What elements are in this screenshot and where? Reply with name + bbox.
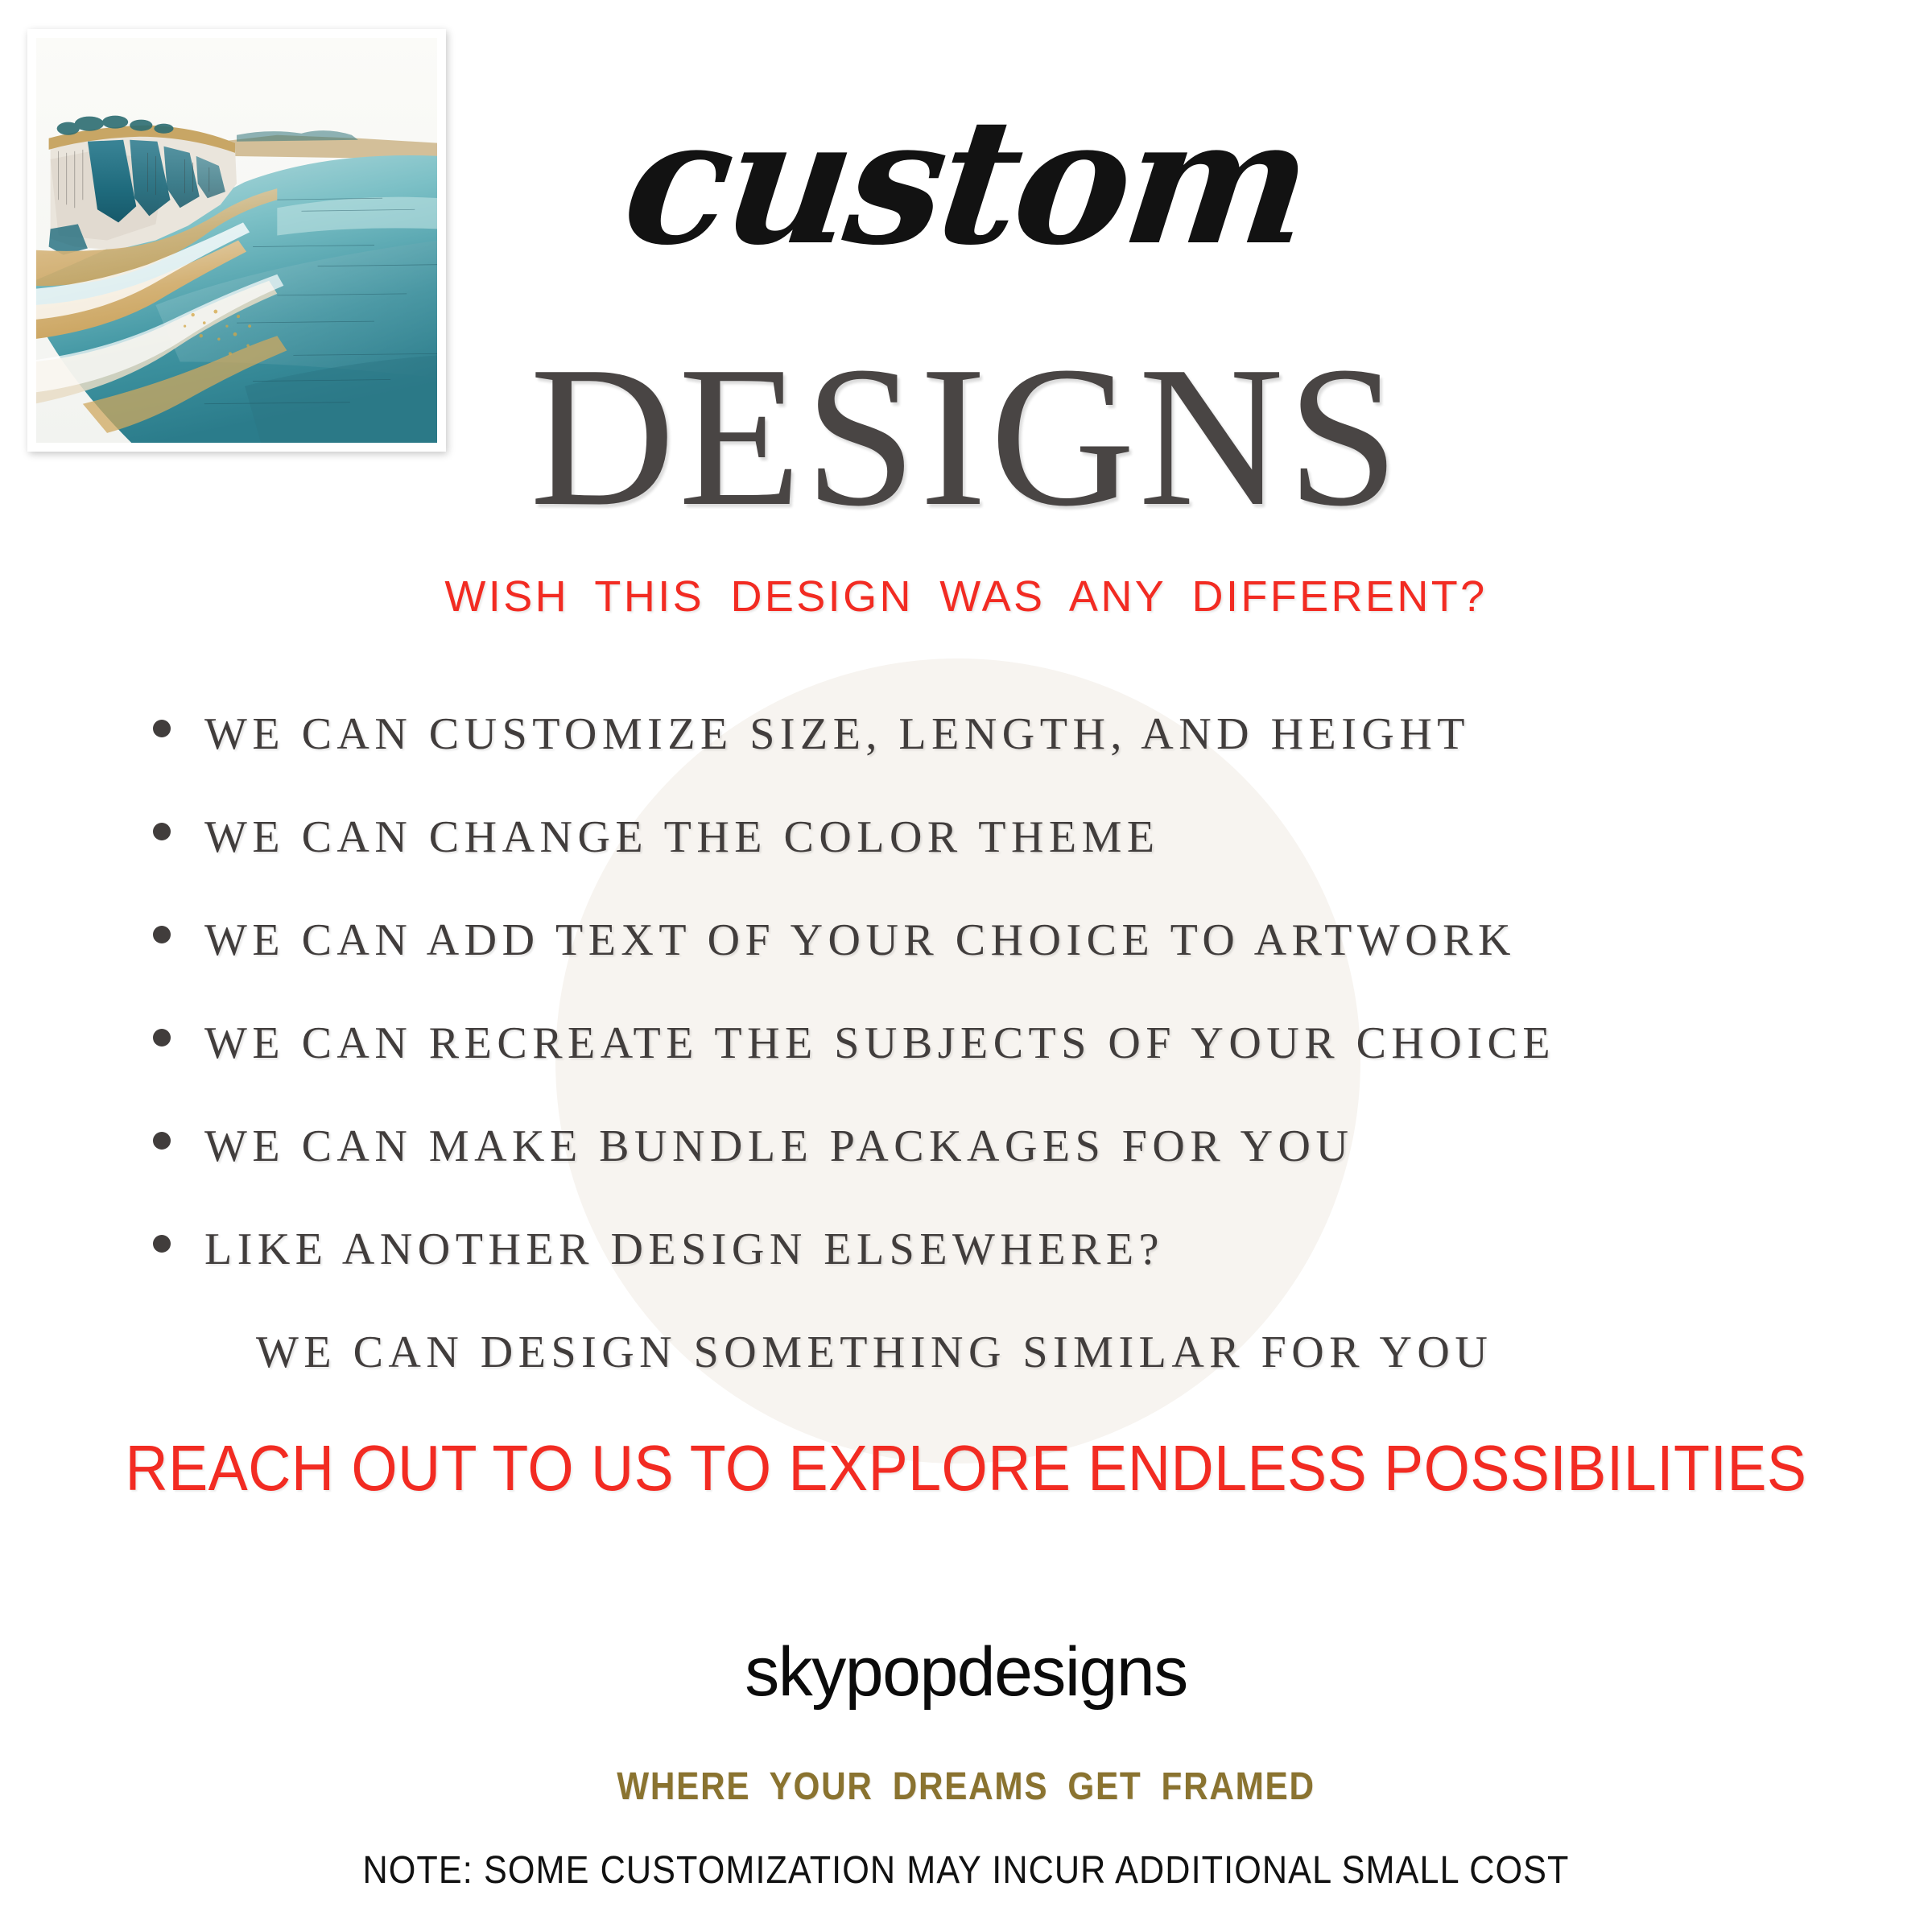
bullet-icon xyxy=(153,1029,171,1046)
brand-logo-text: skypopdesigns xyxy=(0,1637,1932,1707)
list-item-label: LIKE ANOTHER DESIGN ELSEWHERE? xyxy=(204,1224,1164,1275)
list-item-label: WE CAN RECREATE THE SUBJECTS OF YOUR CHO… xyxy=(204,1018,1555,1069)
list-item: WE CAN CUSTOMIZE SIZE, LENGTH, AND HEIGH… xyxy=(153,708,1811,811)
list-item: WE CAN MAKE BUNDLE PACKAGES FOR YOU xyxy=(153,1121,1811,1224)
list-item-continuation: WE CAN DESIGN SOMETHING SIMILAR FOR YOU xyxy=(153,1327,1811,1430)
bullet-icon xyxy=(153,1235,171,1253)
brand-tagline: WHERE YOUR DREAMS GET FRAMED xyxy=(116,1768,1816,1806)
bullet-icon xyxy=(153,1132,171,1150)
bullet-icon-placeholder xyxy=(204,1338,222,1356)
coastal-cliffs-illustration xyxy=(36,38,437,443)
footnote-note: NOTE: SOME CUSTOMIZATION MAY INCUR ADDIT… xyxy=(97,1851,1835,1890)
list-item: WE CAN ADD TEXT OF YOUR CHOICE TO ARTWOR… xyxy=(153,914,1811,1018)
artwork-image xyxy=(36,38,437,443)
bullet-icon xyxy=(153,823,171,840)
bullet-icon xyxy=(153,720,171,737)
list-item: WE CAN CHANGE THE COLOR THEME xyxy=(153,811,1811,914)
artwork-thumbnail xyxy=(27,29,446,452)
subtitle-question: WISH THIS DESIGN WAS ANY DIFFERENT? xyxy=(0,573,1932,621)
list-item-label: WE CAN CHANGE THE COLOR THEME xyxy=(204,811,1160,863)
list-item: WE CAN RECREATE THE SUBJECTS OF YOUR CHO… xyxy=(153,1018,1811,1121)
list-item-label: WE CAN CUSTOMIZE SIZE, LENGTH, AND HEIGH… xyxy=(204,708,1470,760)
list-item: LIKE ANOTHER DESIGN ELSEWHERE? xyxy=(153,1224,1811,1327)
bullet-icon xyxy=(153,926,171,943)
call-to-action: REACH OUT TO US TO EXPLORE ENDLESS POSSI… xyxy=(77,1435,1855,1502)
list-item-label: WE CAN ADD TEXT OF YOUR CHOICE TO ARTWOR… xyxy=(204,914,1516,966)
feature-list: WE CAN CUSTOMIZE SIZE, LENGTH, AND HEIGH… xyxy=(153,708,1811,1430)
list-item-label: WE CAN MAKE BUNDLE PACKAGES FOR YOU xyxy=(204,1121,1353,1172)
list-item-label: WE CAN DESIGN SOMETHING SIMILAR FOR YOU xyxy=(256,1327,1492,1378)
